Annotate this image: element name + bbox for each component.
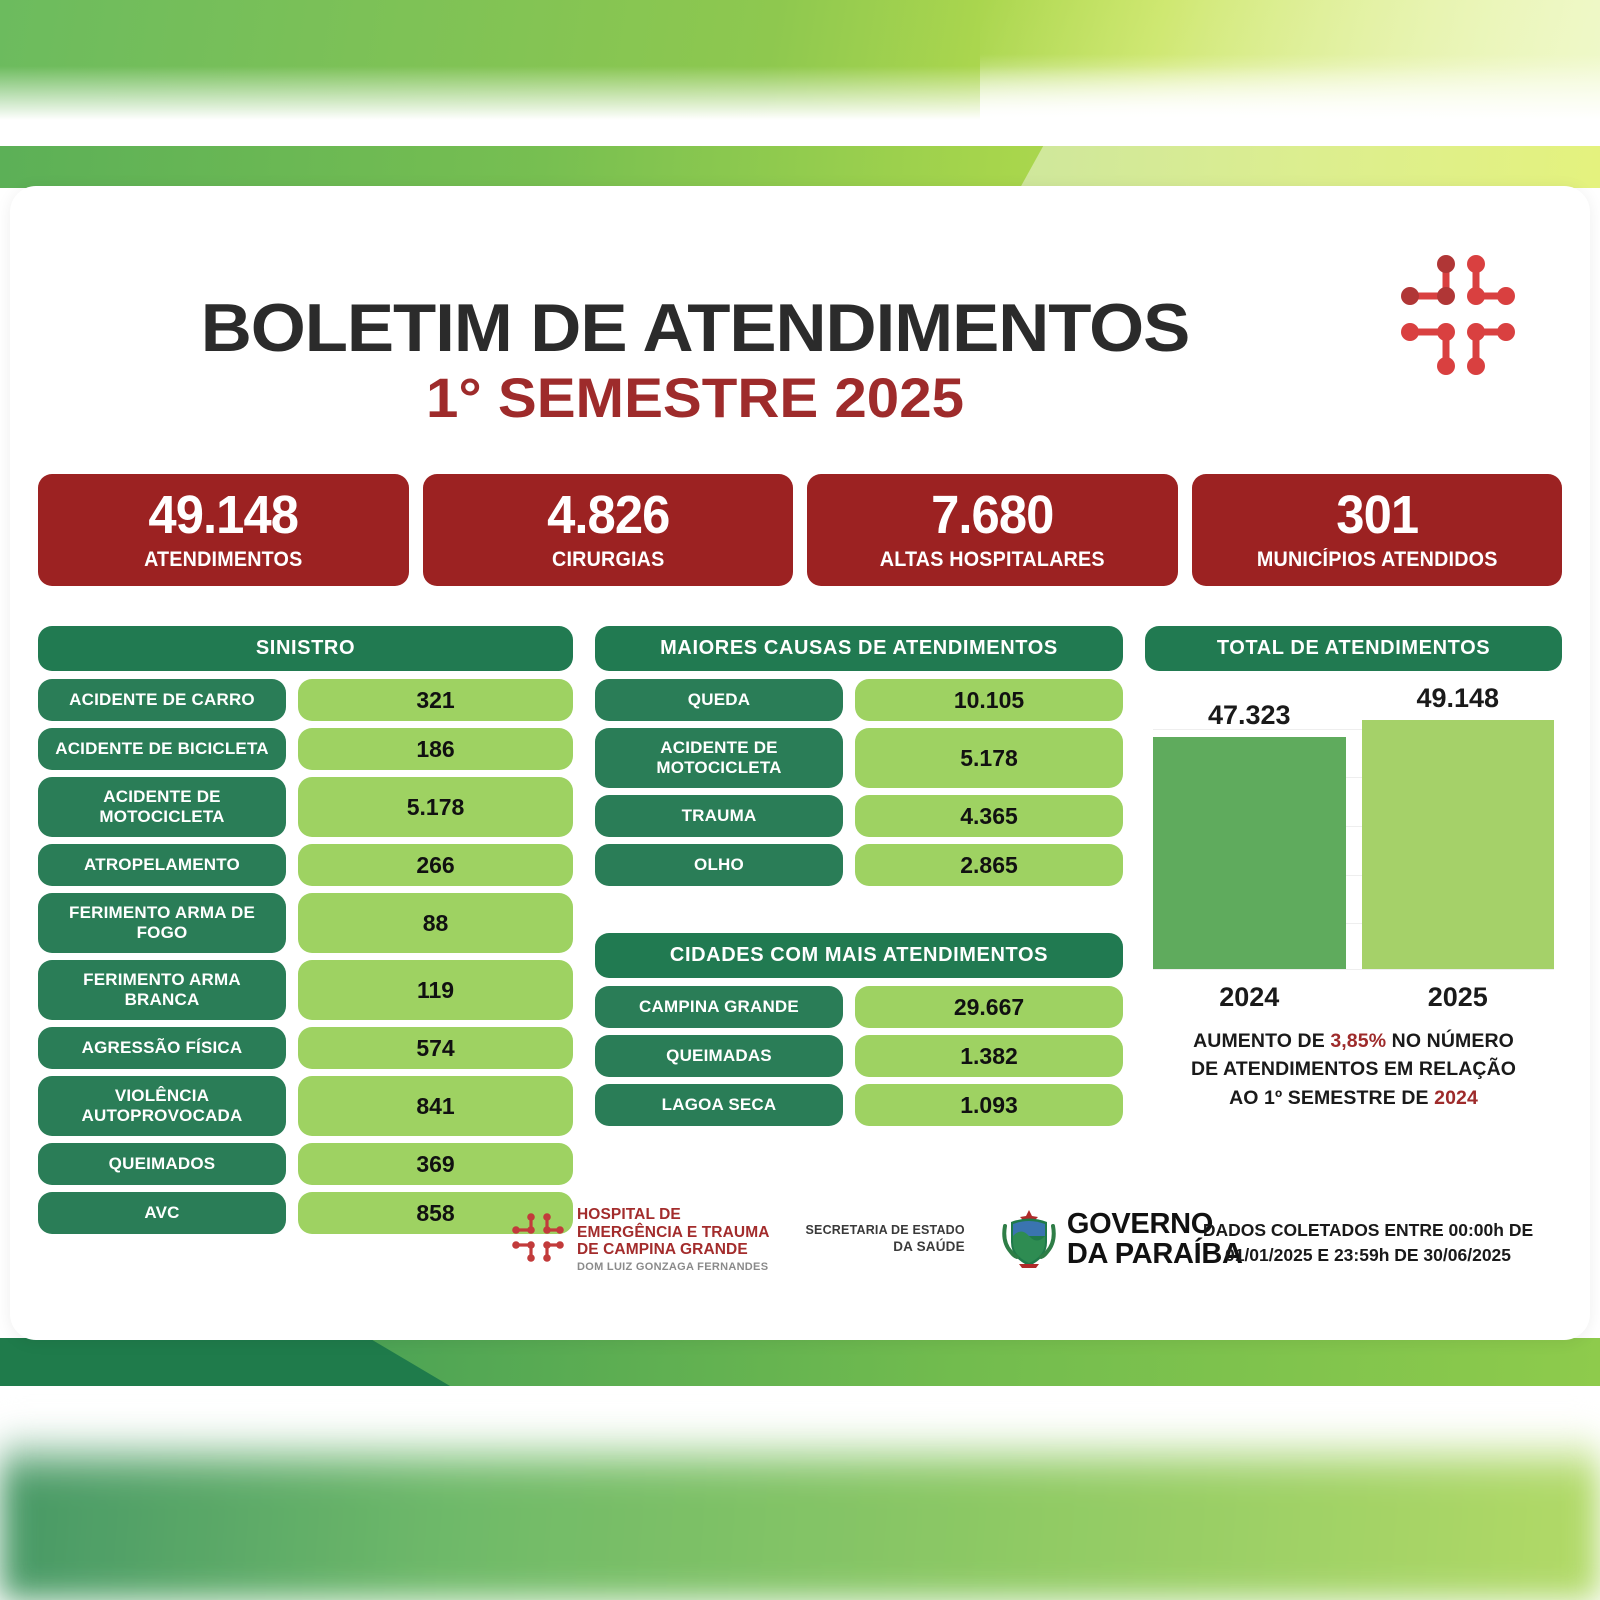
background-bottom-ghost-reflection xyxy=(380,1395,1220,1505)
hospital-logo-text: HOSPITAL DE EMERGÊNCIA E TRAUMA DE CAMPI… xyxy=(577,1206,770,1273)
row-value: 5.178 xyxy=(298,777,573,837)
row-value: 1.382 xyxy=(855,1035,1123,1077)
row-value: 369 xyxy=(298,1143,573,1185)
table-row: QUEDA 10.105 xyxy=(595,679,1123,721)
row-value: 186 xyxy=(298,728,573,770)
row-value: 5.178 xyxy=(855,728,1123,788)
footer: HOSPITAL DE EMERGÊNCIA E TRAUMA DE CAMPI… xyxy=(10,1196,1590,1326)
paraiba-coat-of-arms-icon xyxy=(1001,1206,1057,1273)
growth-note: AUMENTO DE 3,85% NO NÚMERO DE ATENDIMENT… xyxy=(1145,1027,1562,1112)
kpi-card-cirurgias: 4.826 CIRURGIAS xyxy=(423,474,794,586)
growth-line3-year: 2024 xyxy=(1434,1087,1478,1109)
background-top-gradient xyxy=(0,0,1600,120)
chart-plot-area: 47.323 49.148 xyxy=(1153,683,1554,969)
page-subtitle: 1° SEMESTRE 2025 xyxy=(0,369,1407,426)
table-row: ACIDENTE DE MOTOCICLETA 5.178 xyxy=(595,728,1123,788)
row-label: QUEIMADOS xyxy=(38,1143,286,1185)
chart-bar-2025 xyxy=(1362,720,1555,969)
footer-logos: HOSPITAL DE EMERGÊNCIA E TRAUMA DE CAMPI… xyxy=(510,1206,1243,1273)
kpi-value: 4.826 xyxy=(443,488,772,542)
kpi-card-altas-hospitalares: 7.680 ALTAS HOSPITALARES xyxy=(807,474,1178,586)
table-row: LAGOA SECA 1.093 xyxy=(595,1084,1123,1126)
table-row: FERIMENTO ARMA BRANCA 119 xyxy=(38,960,573,1020)
row-label: QUEDA xyxy=(595,679,843,721)
hospital-logo-line4: DOM LUIZ GONZAGA FERNANDES xyxy=(577,1261,770,1273)
chart-x-axis-labels: 2024 2025 xyxy=(1153,982,1554,1013)
total-atendimentos-bar-chart: 47.323 49.148 2024 2025 xyxy=(1145,683,1562,1013)
row-label: FERIMENTO ARMA DE FOGO xyxy=(38,893,286,953)
row-value: 29.667 xyxy=(855,986,1123,1028)
kpi-label: ATENDIMENTOS xyxy=(59,548,388,572)
kpi-label: CIRURGIAS xyxy=(443,548,772,572)
row-value: 266 xyxy=(298,844,573,886)
row-label: ACIDENTE DE CARRO xyxy=(38,679,286,721)
table-row: QUEIMADAS 1.382 xyxy=(595,1035,1123,1077)
kpi-label: MUNICÍPIOS ATENDIDOS xyxy=(1212,548,1541,572)
table-row: ACIDENTE DE MOTOCICLETA 5.178 xyxy=(38,777,573,837)
section-title-total: TOTAL DE ATENDIMENTOS xyxy=(1145,626,1562,671)
growth-middle: NO NÚMERO xyxy=(1392,1030,1514,1052)
section-total-atendimentos: TOTAL DE ATENDIMENTOS 47.323 xyxy=(1145,626,1562,1241)
collected-line2: 01/01/2025 E 23:59h DE 30/06/2025 xyxy=(1168,1243,1568,1268)
row-label: FERIMENTO ARMA BRANCA xyxy=(38,960,286,1020)
table-row: OLHO 2.865 xyxy=(595,844,1123,886)
hospital-logo-line2: EMERGÊNCIA E TRAUMA xyxy=(577,1224,770,1242)
row-label: LAGOA SECA xyxy=(595,1084,843,1126)
table-row: ACIDENTE DE BICICLETA 186 xyxy=(38,728,573,770)
row-value: 574 xyxy=(298,1027,573,1069)
kpi-card-municipios-atendidos: 301 MUNICÍPIOS ATENDIDOS xyxy=(1192,474,1563,586)
section-sinistro: SINISTRO ACIDENTE DE CARRO 321 ACIDENTE … xyxy=(38,626,573,1241)
table-row: ACIDENTE DE CARRO 321 xyxy=(38,679,573,721)
secretaria-line2: DA SAÚDE xyxy=(806,1239,965,1256)
table-row: ATROPELAMENTO 266 xyxy=(38,844,573,886)
hospital-logo-line3: DE CAMPINA GRANDE xyxy=(577,1241,770,1259)
table-row: AGRESSÃO FÍSICA 574 xyxy=(38,1027,573,1069)
row-value: 4.365 xyxy=(855,795,1123,837)
chart-bar-group-2024: 47.323 xyxy=(1153,683,1346,969)
row-value: 10.105 xyxy=(855,679,1123,721)
chart-x-tick-2025: 2025 xyxy=(1362,982,1555,1013)
row-label: ACIDENTE DE BICICLETA xyxy=(38,728,286,770)
row-label: TRAUMA xyxy=(595,795,843,837)
collected-line1: DADOS COLETADOS ENTRE 00:00h DE xyxy=(1168,1218,1568,1243)
kpi-row: 49.148 ATENDIMENTOS 4.826 CIRURGIAS 7.68… xyxy=(38,474,1562,586)
row-label: AGRESSÃO FÍSICA xyxy=(38,1027,286,1069)
chart-bars: 47.323 49.148 xyxy=(1153,683,1554,969)
hospital-dots-logo-icon xyxy=(510,1211,568,1268)
table-row: TRAUMA 4.365 xyxy=(595,795,1123,837)
chart-bar-value-2025: 49.148 xyxy=(1362,683,1555,714)
row-value: 1.093 xyxy=(855,1084,1123,1126)
background-top-stripe-light xyxy=(1020,146,1600,188)
row-label: VIOLÊNCIA AUTOPROVOCADA xyxy=(38,1076,286,1136)
row-label: ACIDENTE DE MOTOCICLETA xyxy=(595,728,843,788)
hospital-logo: HOSPITAL DE EMERGÊNCIA E TRAUMA DE CAMPI… xyxy=(510,1206,770,1273)
section-title-causas: MAIORES CAUSAS DE ATENDIMENTOS xyxy=(595,626,1123,671)
table-row: FERIMENTO ARMA DE FOGO 88 xyxy=(38,893,573,953)
secretaria-logo: SECRETARIA DE ESTADO DA SAÚDE xyxy=(806,1223,965,1256)
row-value: 841 xyxy=(298,1076,573,1136)
growth-line2: DE ATENDIMENTOS EM RELAÇÃO xyxy=(1191,1058,1516,1080)
row-label: OLHO xyxy=(595,844,843,886)
content-columns: SINISTRO ACIDENTE DE CARRO 321 ACIDENTE … xyxy=(38,626,1562,1241)
secretaria-line1: SECRETARIA DE ESTADO xyxy=(806,1223,965,1239)
header-block: BOLETIM DE ATENDIMENTOS 1° SEMESTRE 2025 xyxy=(10,294,1380,426)
chart-axis-baseline xyxy=(1153,969,1554,970)
row-value: 119 xyxy=(298,960,573,1020)
row-value: 321 xyxy=(298,679,573,721)
table-row: CAMPINA GRANDE 29.667 xyxy=(595,986,1123,1028)
chart-bar-2024 xyxy=(1153,737,1346,969)
page-title: BOLETIM DE ATENDIMENTOS xyxy=(0,294,1407,363)
section-title-cidades: CIDADES COM MAIS ATENDIMENTOS xyxy=(595,933,1123,978)
growth-percent: 3,85% xyxy=(1330,1030,1386,1052)
section-causas-e-cidades: MAIORES CAUSAS DE ATENDIMENTOS QUEDA 10.… xyxy=(595,626,1123,1241)
row-value: 2.865 xyxy=(855,844,1123,886)
kpi-label: ALTAS HOSPITALARES xyxy=(828,548,1157,572)
growth-prefix: AUMENTO DE xyxy=(1193,1030,1325,1052)
row-value: 88 xyxy=(298,893,573,953)
chart-bar-group-2025: 49.148 xyxy=(1362,683,1555,969)
kpi-value: 7.680 xyxy=(828,488,1157,542)
row-label: CAMPINA GRANDE xyxy=(595,986,843,1028)
infographic-canvas: BOLETIM DE ATENDIMENTOS 1° SEMESTRE 2025 xyxy=(0,0,1600,1600)
hospital-dots-logo-icon xyxy=(1388,248,1528,388)
hospital-logo-line1: HOSPITAL DE xyxy=(577,1206,770,1224)
table-row: VIOLÊNCIA AUTOPROVOCADA 841 xyxy=(38,1076,573,1136)
kpi-value: 49.148 xyxy=(59,488,388,542)
growth-line3-prefix: AO 1º SEMESTRE DE xyxy=(1229,1087,1429,1109)
data-collection-note: DADOS COLETADOS ENTRE 00:00h DE 01/01/20… xyxy=(1168,1218,1568,1268)
main-panel: BOLETIM DE ATENDIMENTOS 1° SEMESTRE 2025 xyxy=(10,186,1590,1340)
row-label: ATROPELAMENTO xyxy=(38,844,286,886)
row-label: QUEIMADAS xyxy=(595,1035,843,1077)
kpi-value: 301 xyxy=(1212,488,1541,542)
chart-x-tick-2024: 2024 xyxy=(1153,982,1346,1013)
chart-bar-value-2024: 47.323 xyxy=(1153,700,1346,731)
kpi-card-atendimentos: 49.148 ATENDIMENTOS xyxy=(38,474,409,586)
row-label: ACIDENTE DE MOTOCICLETA xyxy=(38,777,286,837)
section-spacer xyxy=(595,893,1123,933)
table-row: QUEIMADOS 369 xyxy=(38,1143,573,1185)
section-title-sinistro: SINISTRO xyxy=(38,626,573,671)
